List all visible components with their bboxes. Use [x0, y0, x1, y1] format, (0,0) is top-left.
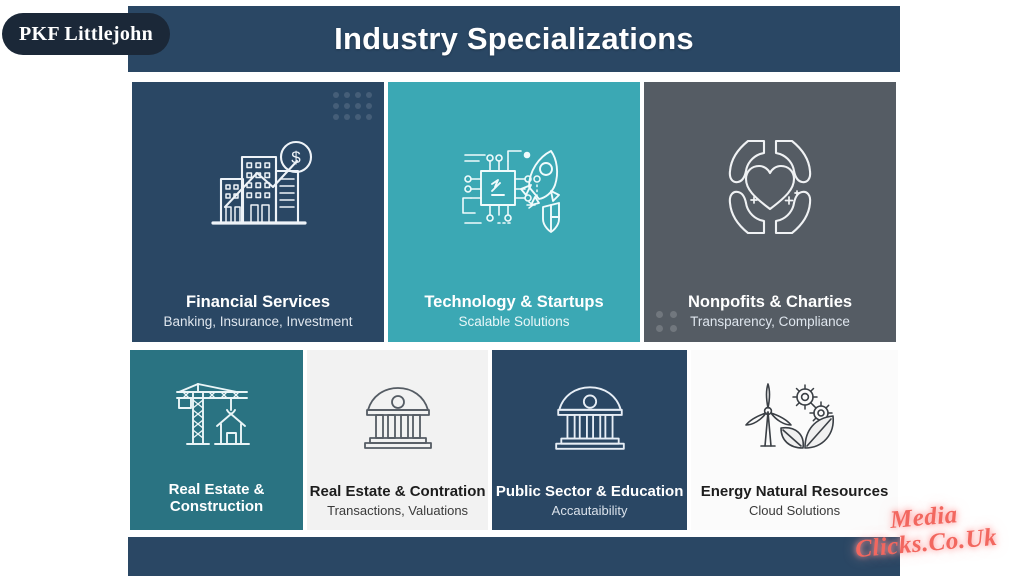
bank-building-icon — [492, 350, 687, 484]
card-text: Real Estate & Construction — [130, 482, 303, 530]
card-text: Energy Natural Resources Cloud Solutions — [691, 484, 898, 530]
footer-bar — [128, 537, 900, 576]
card-row-top: $ Financial Services Banking, Insurance,… — [132, 82, 896, 342]
header-bar: Industry Specializations — [128, 6, 900, 72]
card-subtitle: Transparency, Compliance — [644, 314, 896, 330]
card-financial-services[interactable]: $ Financial Services Banking, Insurance,… — [132, 82, 384, 342]
card-title: Public Sector & Education — [492, 484, 687, 501]
card-real-estate-contration[interactable]: Real Estate & Contration Transactions, V… — [307, 350, 488, 530]
svg-text:$: $ — [291, 148, 301, 167]
card-nonprofits-charities[interactable]: Nonpofits & Charties Transparency, Compl… — [644, 82, 896, 342]
card-title: Real Estate & Construction — [130, 482, 303, 516]
bank-building-icon — [307, 350, 488, 484]
logo-text: PKF Littlejohn — [19, 23, 153, 46]
card-subtitle: Cloud Solutions — [691, 503, 898, 518]
card-title: Energy Natural Resources — [691, 484, 898, 501]
card-text: Technology & Startups Scalable Solutions — [388, 293, 640, 342]
page-title: Industry Specializations — [334, 21, 694, 57]
circuit-rocket-shield-icon — [388, 82, 640, 293]
card-public-sector-education[interactable]: Public Sector & Education Accautaibility — [492, 350, 687, 530]
hands-heart-icon — [644, 82, 896, 293]
card-technology-startups[interactable]: Technology & Startups Scalable Solutions — [388, 82, 640, 342]
card-subtitle: Scalable Solutions — [388, 314, 640, 330]
wind-turbine-leaf-gear-icon — [691, 350, 898, 484]
card-energy-natural-resources[interactable]: Energy Natural Resources Cloud Solutions — [691, 350, 898, 530]
dot-pattern-decor — [656, 311, 677, 332]
dot-pattern-decor — [333, 92, 372, 120]
card-real-estate-construction[interactable]: Real Estate & Construction — [130, 350, 303, 530]
card-subtitle: Accautaibility — [492, 503, 687, 518]
card-title: Real Estate & Contration — [307, 484, 488, 501]
watermark-line-1: Media — [889, 502, 959, 533]
card-subtitle: Transactions, Valuations — [307, 503, 488, 518]
crane-house-icon — [130, 350, 303, 482]
card-text: Nonpofits & Charties Transparency, Compl… — [644, 293, 896, 342]
card-text: Real Estate & Contration Transactions, V… — [307, 484, 488, 530]
card-title: Nonpofits & Charties — [644, 293, 896, 311]
card-title: Financial Services — [132, 293, 384, 311]
card-title: Technology & Startups — [388, 293, 640, 311]
card-subtitle: Banking, Insurance, Investment — [132, 314, 384, 330]
slide-canvas: Industry Specializations PKF Littlejohn — [0, 0, 1024, 576]
card-text: Public Sector & Education Accautaibility — [492, 484, 687, 530]
card-text: Financial Services Banking, Insurance, I… — [132, 293, 384, 342]
logo-badge: PKF Littlejohn — [2, 13, 170, 55]
card-row-bottom: Real Estate & Construction — [130, 350, 898, 530]
